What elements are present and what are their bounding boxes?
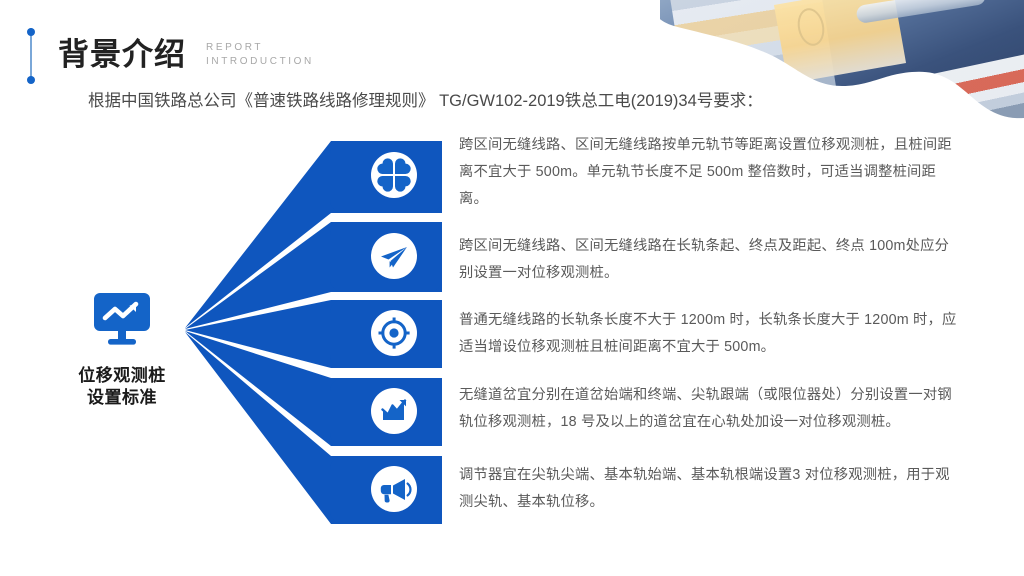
fan-icon-badge-5[interactable]: [371, 466, 417, 512]
slide-canvas: 背景介绍 REPORTINTRODUCTION 根据中国铁路总公司《普速铁路线路…: [0, 0, 1024, 576]
item-text-3: 普通无缝线路的长轨条长度不大于 1200m 时，长轨条长度大于 1200m 时，…: [459, 307, 957, 361]
item-text-5: 调节器宜在尖轨尖端、基本轨始端、基本轨根端设置3 对位移观测桩，用于观测尖轨、基…: [459, 462, 957, 516]
fan-icon-badge-1[interactable]: [371, 152, 417, 198]
item-text-1: 跨区间无缝线路、区间无缝线路按单元轨节等距离设置位移观测桩，且桩间距离不宜大于 …: [459, 132, 957, 213]
monitor-chart-icon: [92, 292, 152, 346]
left-node-label-line2: 设置标准: [87, 388, 157, 407]
fan-icon-badge-3[interactable]: [371, 310, 417, 356]
left-node-label-line1: 位移观测桩: [78, 366, 166, 385]
left-node-label: 位移观测桩设置标准: [52, 365, 192, 409]
fan-icon-badge-4[interactable]: [371, 388, 417, 434]
item-text-2: 跨区间无缝线路、区间无缝线路在长轨条起、终点及距起、终点 100m处应分别设置一…: [459, 233, 957, 287]
fan-icon-badge-2[interactable]: [371, 233, 417, 279]
item-text-4: 无缝道岔宜分别在道岔始端和终端、尖轨跟端（或限位器处）分别设置一对钢轨位移观测桩…: [459, 382, 957, 436]
